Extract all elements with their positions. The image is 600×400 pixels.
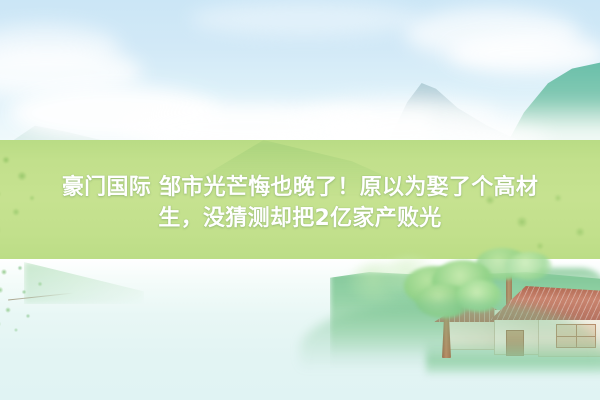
cloud-icon [190,2,420,36]
tree-canopy [506,252,552,280]
headline-line-2: 生，没猜测却把2亿家产败光 [0,203,600,234]
branch-leaves [0,258,90,350]
left-branch [0,258,90,350]
headline-text: 豪门国际 邹市光芒悔也晚了！原以为娶了个高材 生，没猜测却把2亿家产败光 [0,172,600,234]
cover-image-scene: 豪门国际 邹市光芒悔也晚了！原以为娶了个高材 生，没猜测却把2亿家产败光 [0,0,600,400]
headline-line-1: 豪门国际 邹市光芒悔也晚了！原以为娶了个高材 [0,172,600,203]
